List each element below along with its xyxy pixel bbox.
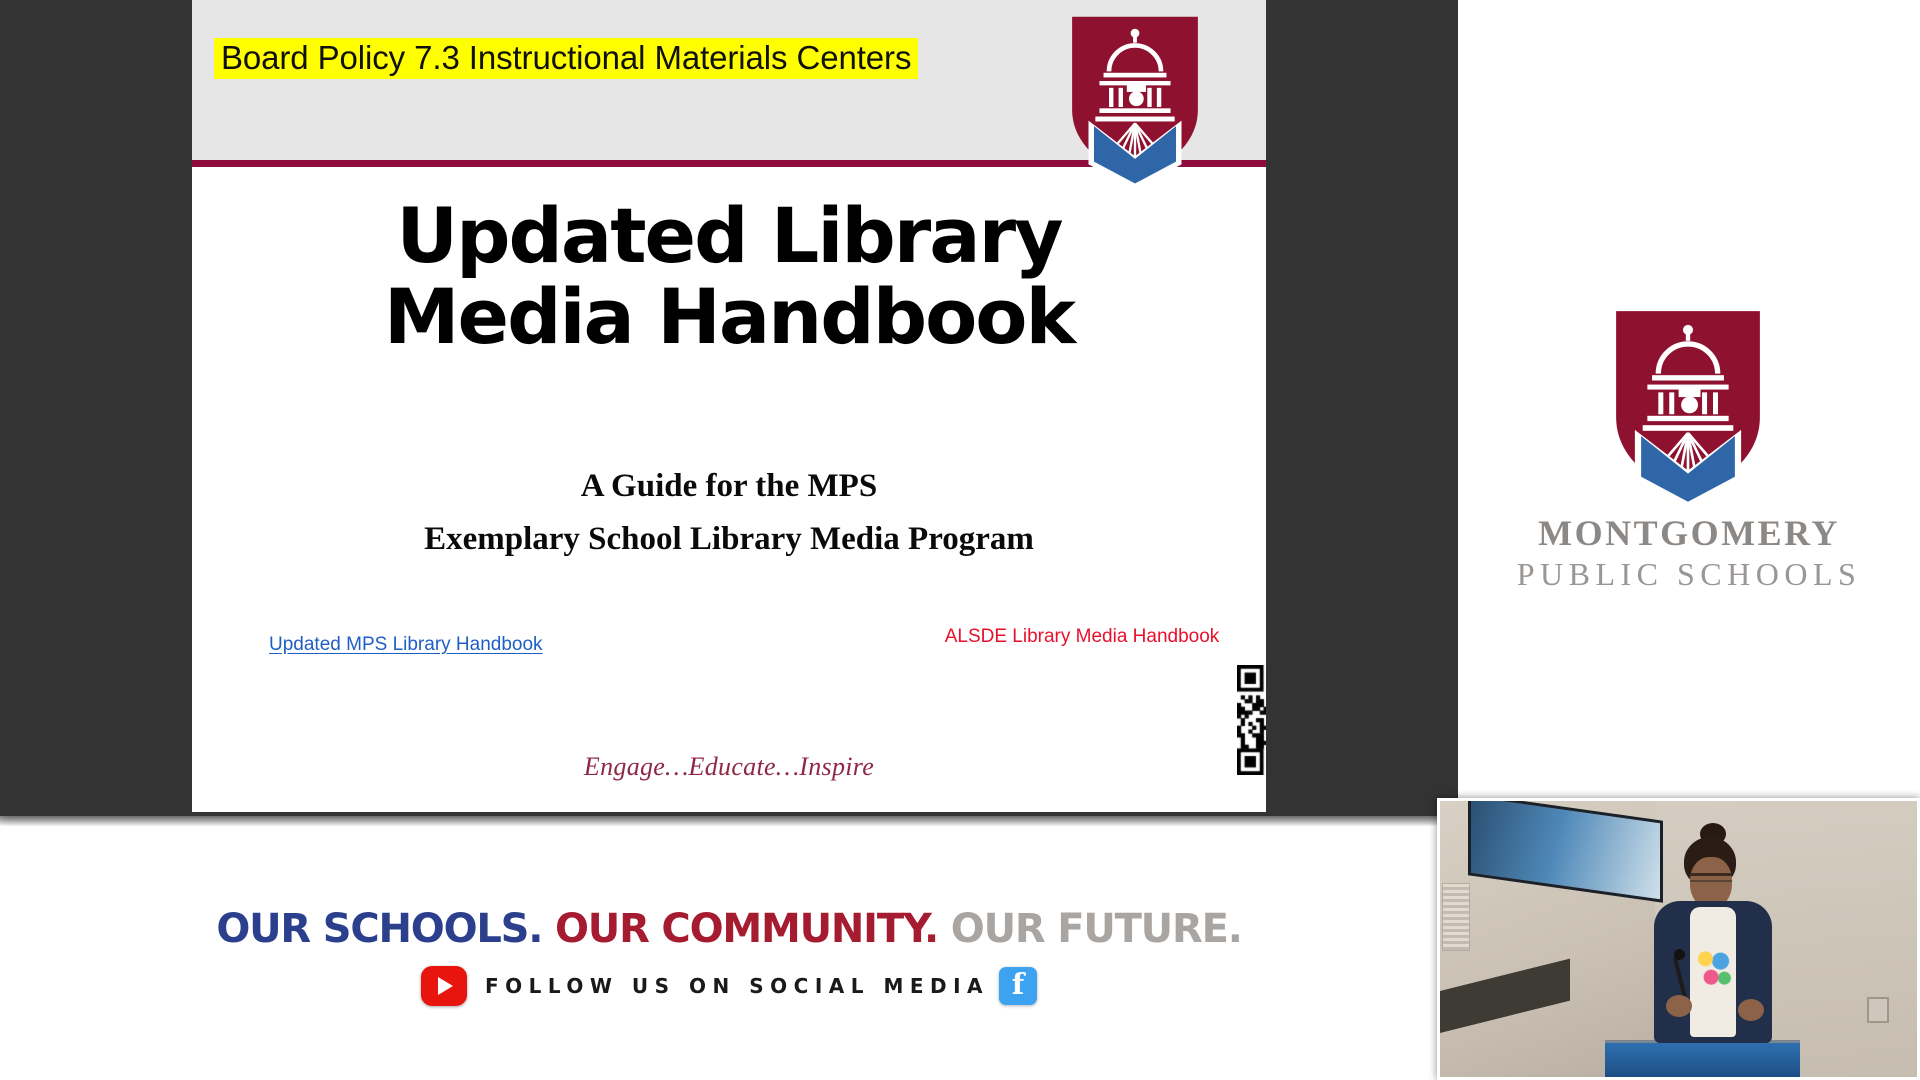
wordmark-public-schools: PUBLIC SCHOOLS [1458, 556, 1920, 593]
slogan-our-community: OUR COMMUNITY. [555, 906, 938, 952]
social-banner: OUR SCHOOLS. OUR COMMUNITY. OUR FUTURE. … [0, 826, 1458, 1080]
speaker-video-feed[interactable] [1437, 798, 1920, 1080]
district-tagline: Engage…Educate…Inspire [192, 752, 1266, 782]
slogan-our-schools: OUR SCHOOLS. [216, 906, 542, 952]
wall-vent [1442, 883, 1470, 951]
mps-shield-icon [1609, 308, 1767, 508]
slide-main-title: Updated Library Media Handbook [192, 196, 1266, 357]
wordmark-montgomery: MONTGOMERY [1458, 512, 1920, 554]
youtube-icon[interactable] [421, 966, 467, 1006]
screen: Board Policy 7.3 Instructional Materials… [0, 0, 1920, 1080]
follow-us-label: FOLLOW US ON SOCIAL MEDIA [467, 974, 999, 998]
slide-subtitle: A Guide for the MPS Exemplary School Lib… [192, 460, 1266, 567]
facebook-glyph: f [1012, 970, 1024, 999]
mps-shield-icon [1066, 14, 1204, 189]
video-scene [1440, 801, 1917, 1077]
presenter [1638, 835, 1788, 1057]
slide-subtitle-line-1: A Guide for the MPS [192, 460, 1266, 513]
microphone-head [1674, 949, 1685, 960]
presenter-glasses [1690, 873, 1732, 882]
presenter-shirt-graphic [1694, 945, 1732, 991]
wall-outlet [1867, 997, 1889, 1023]
slogan-our-future: OUR FUTURE. [951, 906, 1242, 952]
presentation-viewer[interactable]: Board Policy 7.3 Instructional Materials… [0, 0, 1458, 816]
presenter-hand-right [1738, 999, 1764, 1021]
slide-canvas: Board Policy 7.3 Instructional Materials… [192, 0, 1266, 812]
slide-title-line-2: Media Handbook [192, 277, 1266, 358]
facebook-icon[interactable]: f [999, 967, 1037, 1005]
social-row: FOLLOW US ON SOCIAL MEDIA f [0, 966, 1458, 1006]
slide-subtitle-line-2: Exemplary School Library Media Program [192, 513, 1266, 566]
district-slogan: OUR SCHOOLS. OUR COMMUNITY. OUR FUTURE. [0, 906, 1458, 952]
district-brand-panel: MONTGOMERY PUBLIC SCHOOLS [1458, 0, 1920, 816]
updated-mps-library-handbook-link[interactable]: Updated MPS Library Handbook [269, 634, 543, 656]
presenter-hand-left [1666, 995, 1692, 1017]
alsde-library-media-handbook-label[interactable]: ALSDE Library Media Handbook [922, 626, 1242, 648]
play-triangle-icon [438, 977, 453, 995]
slide-title-line-1: Updated Library [192, 196, 1266, 277]
slide-header-title: Board Policy 7.3 Instructional Materials… [214, 38, 918, 79]
